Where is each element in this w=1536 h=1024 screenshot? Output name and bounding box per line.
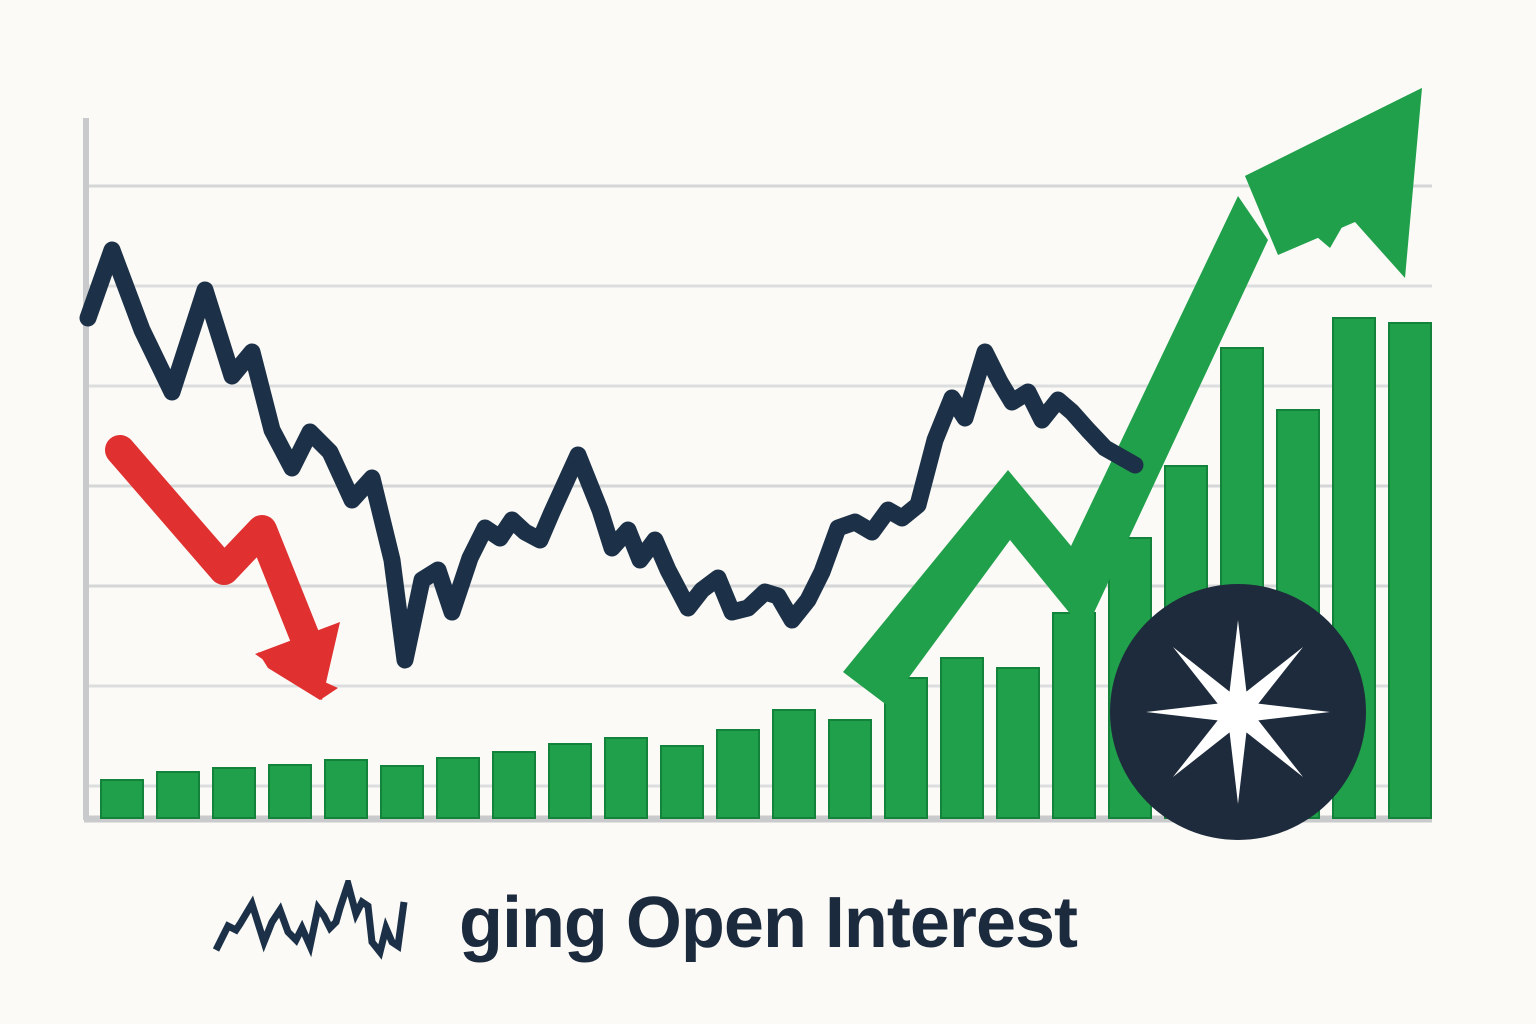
bar: [997, 668, 1039, 818]
bar: [325, 760, 367, 818]
bar: [1389, 323, 1431, 818]
bar: [773, 710, 815, 818]
bar: [717, 730, 759, 818]
bar: [157, 772, 199, 818]
bar: [549, 744, 591, 818]
bar: [941, 658, 983, 818]
bar: [381, 766, 423, 818]
bar: [213, 768, 255, 818]
bar: [1053, 613, 1095, 818]
bar: [437, 758, 479, 818]
bar: [661, 746, 703, 818]
bar: [829, 720, 871, 818]
bar: [605, 738, 647, 818]
bar: [493, 752, 535, 818]
sparkle-badge[interactable]: [1110, 584, 1366, 840]
bar: [101, 780, 143, 818]
sparkline-path: [216, 884, 404, 952]
chart-canvas: ging Open Interest: [0, 0, 1536, 1024]
sparkle-icon: [1146, 620, 1330, 804]
bar: [269, 765, 311, 818]
caption-sparkline-icon: [212, 880, 412, 970]
chart-figure: [0, 0, 1536, 1024]
